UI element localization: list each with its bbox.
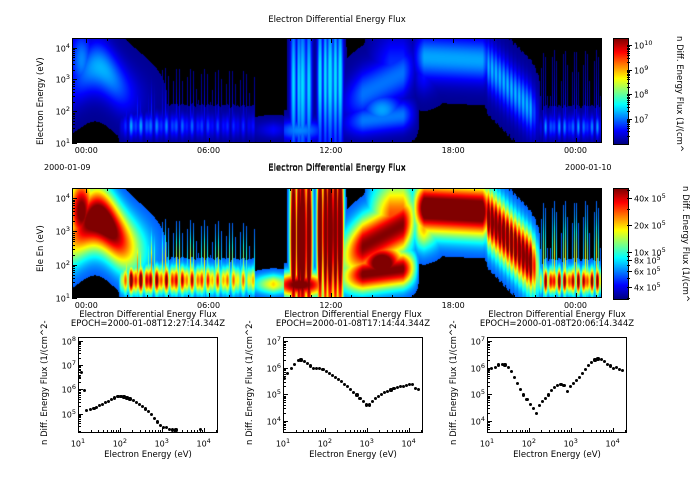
data-point	[538, 404, 541, 407]
spectrum-xtick	[487, 428, 488, 433]
spectrum-xtick	[409, 428, 410, 433]
spectrum-xtick-minor	[407, 430, 408, 433]
ytick-minor	[72, 116, 75, 117]
cbar-tick-minor	[627, 124, 630, 125]
spectrum-ytick-minor	[78, 367, 81, 368]
cbar-tick-minor	[627, 265, 630, 266]
spectrum-ylabel-2: n Diff. Energy Flux (1/(cm^2-	[245, 320, 255, 445]
ytick-major	[72, 298, 77, 299]
spectrum-ytick-minor	[487, 402, 490, 403]
xtick-minor	[494, 295, 495, 298]
cbar-tick-minor	[627, 122, 630, 123]
spectrum-xlabel-2: Electron Energy (eV)	[253, 450, 453, 460]
xtick-top	[168, 38, 169, 41]
spectrum-ytick-minor	[283, 347, 286, 348]
xtick-top	[392, 38, 393, 41]
spectrum-ytick-minor	[283, 408, 286, 409]
spectrum-ytick-minor	[78, 350, 81, 351]
spectrum-frame-1	[78, 337, 218, 433]
cbar-tick-minor	[627, 58, 630, 59]
spectrum-ytick-minor	[487, 355, 490, 356]
data-point	[355, 393, 358, 396]
spectrum-xtick-minor	[549, 430, 550, 433]
spectrum-ytick-minor	[283, 369, 286, 370]
spectrum-ytick-minor	[78, 416, 81, 417]
spectrum-ytick-minor	[487, 413, 490, 414]
cbar-tick-minor	[627, 87, 630, 88]
xtick-top	[494, 38, 495, 41]
spectrum-ytick-minor	[487, 349, 490, 350]
spectrum-xtick-minor	[197, 430, 198, 433]
spectrum-xtick-minor	[591, 430, 592, 433]
spectrum-xtick-minor	[354, 430, 355, 433]
spectrum-xtick-minor	[357, 430, 358, 433]
xtick-minor	[474, 295, 475, 298]
data-point	[153, 417, 156, 420]
spectrum-xtick-minor	[611, 430, 612, 433]
xtick-minor	[535, 295, 536, 298]
spectrum-xlabel-1: Electron Energy (eV)	[48, 450, 248, 460]
spectrum-ytick-minor	[283, 413, 286, 414]
xtick-top	[147, 38, 148, 41]
spectrum-ytick-label: 105	[257, 388, 281, 400]
xtick-top	[555, 188, 556, 191]
spectrum-xtick-minor	[520, 430, 521, 433]
spectrum-xtick-label: 104	[601, 437, 625, 449]
spectrum-ytick-minor	[487, 372, 490, 373]
xtick-label: 00:00	[69, 301, 103, 310]
spectrum-ytick-minor	[78, 393, 81, 394]
spectrum-ytick-minor	[78, 395, 81, 396]
spectrum-ytick-label: 106	[52, 383, 76, 395]
xtick-top	[576, 188, 577, 193]
xtick-top	[412, 38, 413, 41]
xtick-minor	[107, 295, 108, 298]
xtick-minor	[535, 140, 536, 143]
xtick-top	[453, 188, 454, 193]
ytick-minor	[72, 188, 75, 189]
xtick-major	[331, 293, 332, 298]
xtick-label: 12:00	[314, 146, 348, 155]
spectrum-ytick-minor	[487, 345, 490, 346]
spectrum-ytick-label: 107	[52, 359, 76, 371]
ytick-minor	[72, 235, 75, 236]
spectrum-ytick-label: 106	[257, 362, 281, 374]
cbar-tick-minor	[627, 71, 630, 72]
xtick-minor	[311, 140, 312, 143]
cbar-tick-minor	[627, 287, 630, 288]
ytick-minor	[72, 211, 75, 212]
ytick-minor	[72, 121, 75, 122]
xtick-top	[249, 38, 250, 41]
spectrum-xtick-label: 103	[559, 437, 583, 449]
spectrum-ytick-minor	[487, 347, 490, 348]
xtick-top	[433, 38, 434, 41]
data-point	[83, 389, 86, 392]
spectrum-xtick-minor	[303, 430, 304, 433]
cbar-tick-label: 109	[634, 64, 648, 76]
ytick-minor	[72, 255, 75, 256]
ytick-minor	[72, 215, 75, 216]
spectrum-ytick-minor	[487, 376, 490, 377]
xtick-minor	[290, 140, 291, 143]
spectrum-ytick-minor	[283, 398, 286, 399]
xtick-top	[209, 188, 210, 193]
spectrum-ylabel-1: n Diff. Energy Flux (1/(cm^2-	[40, 320, 50, 445]
xtick-top	[535, 38, 536, 41]
ytick-label: 103	[44, 225, 70, 237]
spectrum-ytick-minor	[487, 344, 490, 345]
xtick-minor	[392, 140, 393, 143]
xtick-major	[209, 293, 210, 298]
spectrum-xtick-label: 101	[66, 437, 90, 449]
cbar-tick-minor	[627, 190, 630, 191]
spectrum-xtick-minor	[113, 430, 114, 433]
cbar-tick-minor	[627, 48, 630, 49]
spectrum-ytick-minor	[487, 382, 490, 383]
cbar-tick-minor	[627, 271, 630, 272]
ytick-minor	[72, 268, 75, 269]
ytick-minor	[72, 89, 75, 90]
spectrum-xtick-minor	[318, 430, 319, 433]
spectrum-xtick-minor	[187, 430, 188, 433]
spectrum-xtick-minor	[507, 430, 508, 433]
xtick-top	[494, 188, 495, 191]
data-point	[513, 376, 516, 379]
ytick-minor	[72, 49, 75, 50]
xtick-top	[270, 38, 271, 41]
ytick-minor	[72, 282, 75, 283]
xtick-minor	[596, 140, 597, 143]
cbar-tick-minor	[627, 256, 630, 257]
spectrum-xtick-minor	[323, 430, 324, 433]
spectrum-xtick-minor	[107, 430, 108, 433]
xtick-top	[514, 38, 515, 41]
ytick-minor	[72, 249, 75, 250]
xtick-minor	[229, 295, 230, 298]
spectrum-ytick-minor	[283, 382, 286, 383]
cbar-tick-minor	[627, 136, 630, 137]
xtick-top	[596, 188, 597, 191]
ytick-label: 102	[44, 259, 70, 271]
spectrum-ytick-minor	[78, 353, 81, 354]
ytick-label: 102	[44, 105, 70, 117]
spectrum-xtick-minor	[569, 430, 570, 433]
spectrum-ytick-minor	[487, 342, 490, 343]
spectrum-ytick-minor	[283, 352, 286, 353]
cbar-tick-minor	[627, 121, 630, 122]
xtick-label: 06:00	[192, 146, 226, 155]
spectrum-xtick-minor	[421, 430, 422, 433]
data-point	[547, 393, 550, 396]
data-point	[80, 371, 83, 374]
xtick-minor	[290, 295, 291, 298]
spectrogram-top-ylabel: Electron Energy (eV)	[36, 57, 46, 145]
cbar-tick-minor	[627, 98, 630, 99]
spectrum-ytick-label: 105	[52, 408, 76, 420]
cbar-tick-minor	[627, 198, 630, 199]
xtick-minor	[514, 295, 515, 298]
spectrogram-top-image	[72, 38, 602, 143]
xtick-top	[107, 38, 108, 41]
spectrum-ytick-minor	[283, 396, 286, 397]
ytick-minor	[72, 70, 75, 71]
xtick-major	[453, 138, 454, 143]
spectrum-xtick	[120, 428, 121, 433]
spectrum-ytick-minor	[487, 424, 490, 425]
spectrum-ytick-minor	[78, 392, 81, 393]
cbar-tick-minor	[627, 225, 630, 226]
xtick-minor	[147, 295, 148, 298]
spectrum-ytick-minor	[283, 424, 286, 425]
cbar-tick-minor	[627, 111, 630, 112]
spectrum-ytick-minor	[487, 400, 490, 401]
spectrum-ytick-minor	[283, 402, 286, 403]
spectrum-xtick-minor	[365, 430, 366, 433]
spectrum-ytick-minor	[283, 422, 286, 423]
ytick-minor	[72, 239, 75, 240]
spectrum-ytick-label: 106	[461, 362, 485, 374]
spectrum-xtick	[613, 428, 614, 433]
spectrum-ytick-minor	[283, 344, 286, 345]
data-point	[362, 400, 365, 403]
xtick-top	[229, 188, 230, 191]
spectrum-ytick-minor	[78, 342, 81, 343]
cbar-tick-minor	[627, 252, 630, 253]
xtick-top	[229, 38, 230, 41]
spectrum-xtick-minor	[91, 430, 92, 433]
spectrum-ytick-minor	[283, 342, 286, 343]
cbar-tick-minor	[627, 298, 630, 299]
ytick-minor	[72, 245, 75, 246]
spectrum-xtick-minor	[111, 430, 112, 433]
ytick-minor	[72, 114, 75, 115]
xtick-top	[433, 188, 434, 191]
ytick-minor	[72, 275, 75, 276]
xtick-major	[209, 138, 210, 143]
spectrum-xtick-minor	[405, 430, 406, 433]
ytick-minor	[72, 81, 75, 82]
cbar-tick-minor	[627, 95, 630, 96]
spectrum-xtick-minor	[182, 430, 183, 433]
ytick-minor	[72, 53, 75, 54]
cbar-tick-minor	[627, 53, 630, 54]
ytick-minor	[72, 128, 75, 129]
spectrum-ytick-minor	[487, 408, 490, 409]
xtick-major	[331, 138, 332, 143]
ytick-minor	[72, 278, 75, 279]
ytick-minor	[72, 86, 75, 87]
xtick-minor	[555, 140, 556, 143]
spectrum-ytick-minor	[78, 344, 81, 345]
spectrum-xtick-minor	[516, 430, 517, 433]
cbar-tick-minor	[627, 83, 630, 84]
cbar-tick-label: 6x 105	[634, 265, 661, 277]
data-point	[566, 390, 569, 393]
spectrum-ytick-minor	[78, 417, 81, 418]
xtick-top	[535, 188, 536, 191]
cbar-tick-label: 1010	[634, 39, 652, 51]
spectrum-xtick-minor	[500, 430, 501, 433]
spectrum-ytick-minor	[487, 374, 490, 375]
ytick-minor	[72, 92, 75, 93]
spectrum-xtick-label: 104	[397, 437, 421, 449]
spectrum-xtick-minor	[399, 430, 400, 433]
xtick-label: 18:00	[436, 301, 470, 310]
spectrum-xtick-minor	[625, 430, 626, 433]
spectrum-xtick-minor	[308, 430, 309, 433]
data-point	[293, 363, 296, 366]
cbar-tick-minor	[627, 62, 630, 63]
xtick-minor	[392, 295, 393, 298]
spectrum-xtick-minor	[387, 430, 388, 433]
spectrum-xtick-minor	[561, 430, 562, 433]
cbar-tick-label: 107	[634, 113, 648, 125]
spectrum-xtick-minor	[149, 430, 150, 433]
spectrum-ytick-minor	[78, 382, 81, 383]
xtick-top	[290, 38, 291, 41]
spectrum-ytick-minor	[78, 346, 81, 347]
cbar-tick-minor	[627, 128, 630, 129]
xtick-minor	[168, 295, 169, 298]
xtick-top	[311, 188, 312, 191]
ytick-minor	[72, 96, 75, 97]
spectrum-ytick-minor	[78, 406, 81, 407]
spectrum-ytick-label: 107	[257, 335, 281, 347]
xtick-top	[127, 188, 128, 191]
spectrum-ytick-minor	[487, 386, 490, 387]
ytick-minor	[72, 84, 75, 85]
xtick-minor	[596, 295, 597, 298]
spectrum-ytick-minor	[283, 345, 286, 346]
xtick-label: 00:00	[559, 146, 593, 155]
spectrum-ytick-minor	[487, 352, 490, 353]
spectrum-xtick-minor	[527, 430, 528, 433]
cbar-tick-minor	[627, 74, 630, 75]
spectrum-xtick	[367, 428, 368, 433]
data-point	[562, 384, 565, 387]
cbar-tick-minor	[627, 102, 630, 103]
spectrum-xtick-minor	[603, 430, 604, 433]
spectrum-xtick-minor	[583, 430, 584, 433]
xtick-major	[576, 138, 577, 143]
data-point	[368, 403, 371, 406]
cbar-tick-minor	[627, 75, 630, 76]
ytick-label: 101	[44, 292, 70, 304]
spectrum-xtick-minor	[191, 430, 192, 433]
cbar-tick-minor	[627, 51, 630, 52]
spectrogram-top-colorbar-label: n Diff. Energy Flux (1/(cm^	[674, 36, 684, 152]
spectrum-ytick-label: 108	[52, 335, 76, 347]
xtick-top	[351, 38, 352, 41]
spectrum-xtick-minor	[152, 430, 153, 433]
xtick-minor	[270, 295, 271, 298]
spectrum-xtick-minor	[158, 430, 159, 433]
spectrum-xtick-minor	[554, 430, 555, 433]
xtick-top	[147, 188, 148, 191]
spectrum-xtick-minor	[363, 430, 364, 433]
ytick-minor	[72, 60, 75, 61]
spectrum-ytick-minor	[487, 422, 490, 423]
xtick-top	[514, 188, 515, 191]
spectrum-ytick-label: 107	[461, 335, 485, 347]
xtick-top	[392, 188, 393, 191]
spectrum-xtick-minor	[396, 430, 397, 433]
data-point	[529, 403, 532, 406]
cbar-tick-minor	[627, 77, 630, 78]
spectrum-ytick-minor	[78, 366, 81, 367]
cbar-tick-minor	[627, 55, 630, 56]
ytick-minor	[72, 203, 75, 204]
spectrum-ytick-minor	[283, 386, 286, 387]
xtick-top	[188, 188, 189, 191]
spectrum-xtick-label: 101	[475, 437, 499, 449]
spectrum-ytick-minor	[283, 397, 286, 398]
xtick-top	[127, 38, 128, 41]
xtick-minor	[412, 295, 413, 298]
xtick-minor	[229, 140, 230, 143]
ytick-minor	[72, 233, 75, 234]
data-point	[174, 428, 177, 431]
ytick-minor	[72, 208, 75, 209]
ytick-minor	[72, 237, 75, 238]
spectrum-xtick-minor	[132, 430, 133, 433]
ytick-minor	[72, 266, 75, 267]
ytick-minor	[72, 102, 75, 103]
spectrum-ytick-minor	[78, 369, 81, 370]
spectrum-ytick-minor	[78, 423, 81, 424]
spectrum-ytick-minor	[283, 355, 286, 356]
ytick-minor	[72, 51, 75, 52]
xtick-top	[474, 188, 475, 191]
xtick-top	[412, 188, 413, 191]
spectrum-xtick-minor	[155, 430, 156, 433]
spectrum-ytick-minor	[283, 400, 286, 401]
xtick-top	[188, 38, 189, 41]
xtick-label: 18:00	[436, 146, 470, 155]
xtick-major	[576, 293, 577, 298]
ytick-minor	[72, 64, 75, 65]
spectrum-xtick-label: 102	[108, 437, 132, 449]
spectrum-ytick-minor	[283, 349, 286, 350]
spectrum-ytick-label: 105	[461, 388, 485, 400]
xtick-label: 00:00	[559, 301, 593, 310]
cbar-tick-minor	[627, 126, 630, 127]
cbar-tick-minor	[627, 49, 630, 50]
xtick-minor	[494, 140, 495, 143]
xtick-minor	[168, 140, 169, 143]
spectrum-ytick-minor	[487, 398, 490, 399]
xtick-minor	[372, 295, 373, 298]
ytick-minor	[72, 124, 75, 125]
cbar-tick-label: 40x 105	[634, 192, 666, 204]
spectrum-ytick-minor	[78, 348, 81, 349]
xtick-label: 12:00	[314, 301, 348, 310]
ytick-minor	[72, 270, 75, 271]
spectrum-xtick-minor	[609, 430, 610, 433]
ytick-minor	[72, 133, 75, 134]
cbar-tick-minor	[627, 120, 630, 121]
xtick-top	[372, 188, 373, 191]
spectrum-ytick-minor	[78, 399, 81, 400]
data-point	[156, 420, 159, 423]
spectrum-xtick-minor	[345, 430, 346, 433]
spectrum-xtick-minor	[321, 430, 322, 433]
cbar-tick-minor	[627, 97, 630, 98]
ytick-minor	[72, 57, 75, 58]
spectrogram-mid-colorbar	[613, 188, 629, 300]
xtick-top	[311, 38, 312, 41]
